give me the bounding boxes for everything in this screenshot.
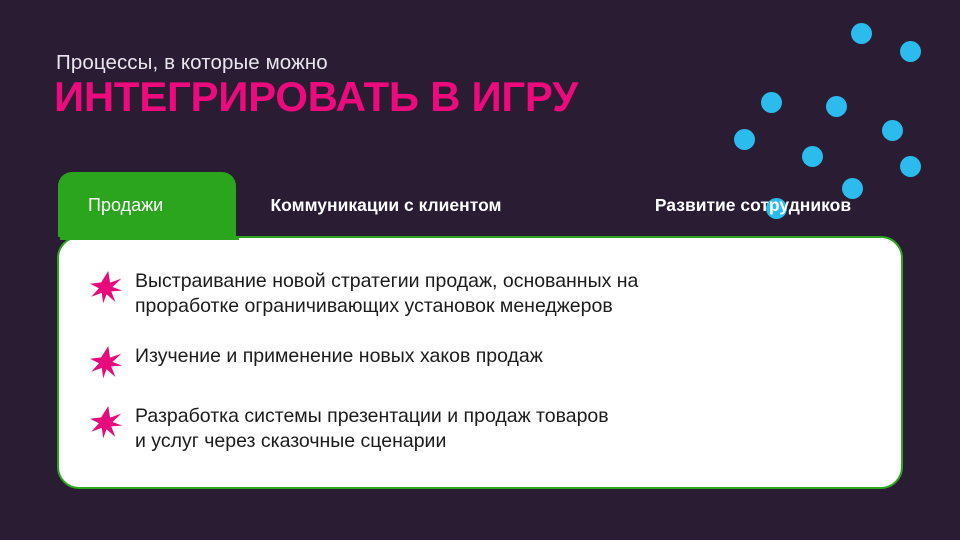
slide-root: Процессы, в которые можно ИНТЕГРИРОВАТЬ … (0, 0, 960, 540)
decorative-dot-4 (826, 96, 847, 117)
decorative-dot-0 (851, 23, 872, 44)
tab-razvitie-sotrudnikov[interactable]: Развитие сотрудников (603, 172, 903, 237)
tab-bar: Продажи Коммуникации с клиентом Развитие… (58, 172, 903, 237)
star-bullet-icon (89, 405, 123, 439)
tab-razvitie-label: Развитие сотрудников (655, 194, 851, 216)
page-title: ИНТЕГРИРОВАТЬ В ИГРУ (54, 74, 578, 120)
list-item-text: Выстраивание новой стратегии продаж, осн… (135, 266, 638, 319)
list-item: Изучение и применение новых хаков продаж (89, 341, 877, 379)
bullet-list: Выстраивание новой стратегии продаж, осн… (89, 266, 877, 454)
decorative-dot-1 (761, 92, 782, 113)
content-panel: Выстраивание новой стратегии продаж, осн… (57, 236, 903, 489)
decorative-dot-6 (882, 120, 903, 141)
tab-kommunikacii-label: Коммуникации с клиентом (271, 194, 502, 216)
active-tab-merge (60, 236, 239, 240)
list-item: Разработка системы презентации и продаж … (89, 401, 877, 454)
decorative-dot-9 (900, 156, 921, 177)
decorative-dot-2 (900, 41, 921, 62)
decorative-dot-5 (802, 146, 823, 167)
list-item-text: Изучение и применение новых хаков продаж (135, 341, 543, 369)
star-bullet-icon (89, 270, 123, 304)
star-bullet-icon (89, 345, 123, 379)
tab-prodazhi[interactable]: Продажи (58, 172, 236, 237)
decorative-dot-3 (734, 129, 755, 150)
list-item-text: Разработка системы презентации и продаж … (135, 401, 609, 454)
slide-eyebrow: Процессы, в которые можно (56, 51, 328, 75)
decorative-dot-cluster (730, 8, 960, 183)
tab-kommunikacii-s-klientom[interactable]: Коммуникации с клиентом (236, 172, 536, 237)
tab-prodazhi-label: Продажи (88, 194, 163, 216)
list-item: Выстраивание новой стратегии продаж, осн… (89, 266, 877, 319)
